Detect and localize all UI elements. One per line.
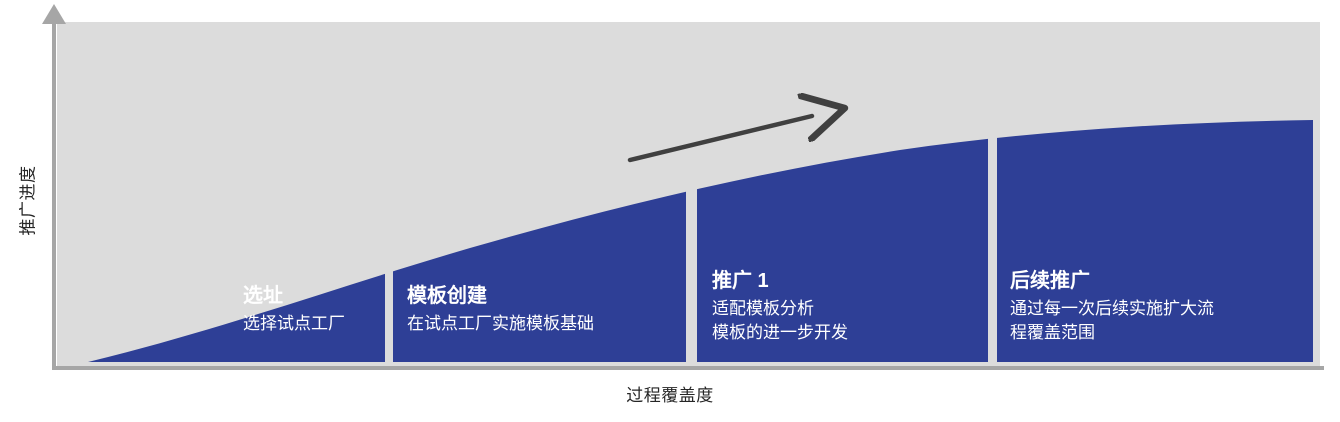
y-axis-label: 推广进度 <box>14 141 39 261</box>
y-axis-line <box>52 22 56 370</box>
plot-area-background <box>57 22 1320 366</box>
x-axis-label: 过程覆盖度 <box>0 381 1340 406</box>
chart-canvas: 推广进度 过程覆盖度 选址 选择试点工厂 模板创建 <box>0 0 1340 422</box>
x-axis-line <box>52 366 1324 370</box>
y-axis-arrowhead-icon <box>42 4 66 24</box>
